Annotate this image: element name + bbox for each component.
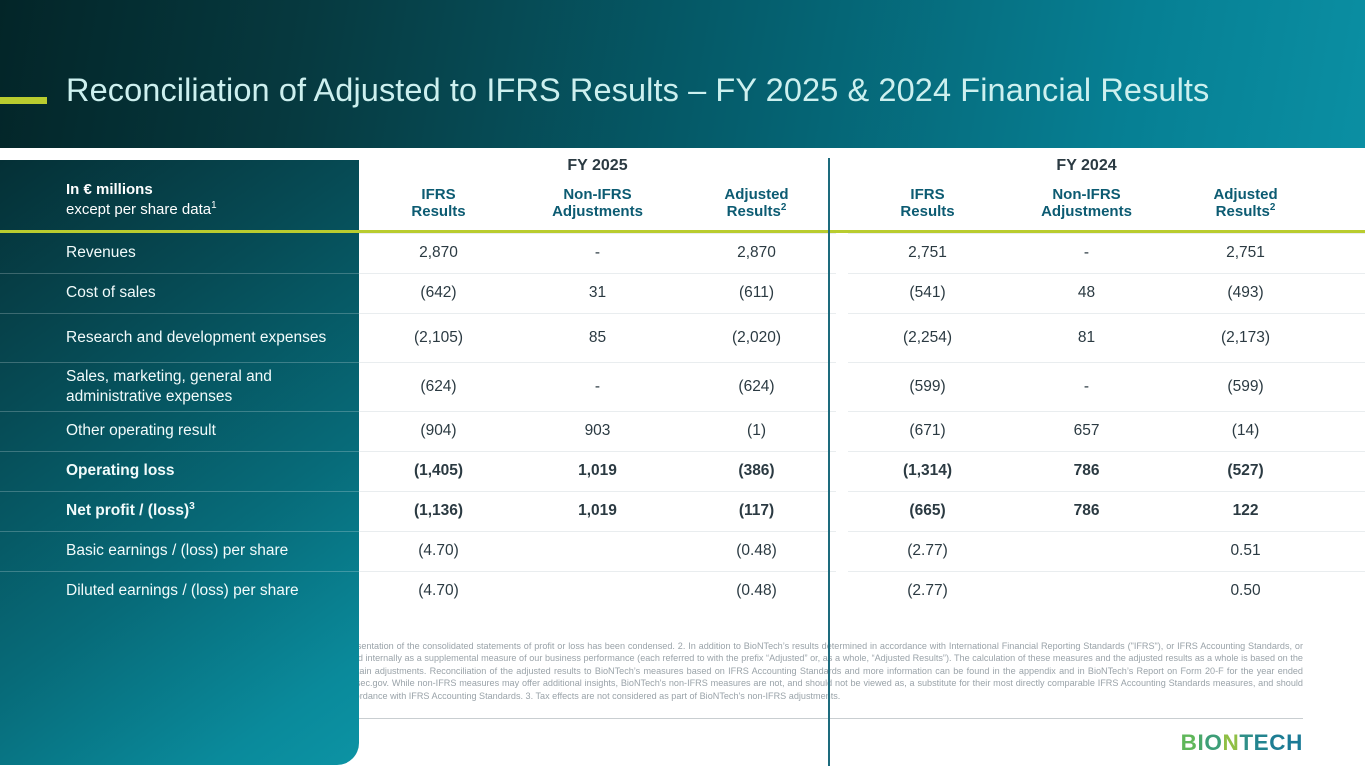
table-cell-value: 2,870	[359, 233, 518, 273]
table-cell-value: (671)	[848, 411, 1007, 451]
page-title: Reconciliation of Adjusted to IFRS Resul…	[66, 72, 1209, 109]
table-cell-value: (2,020)	[677, 313, 836, 362]
table-cell-value: (0.48)	[677, 531, 836, 571]
group-header-gap	[836, 148, 848, 178]
table-cell-value: 48	[1007, 273, 1166, 313]
row-label: Sales, marketing, general and administra…	[0, 362, 359, 411]
table-cell-value	[518, 531, 677, 571]
group-header-pad	[1325, 148, 1365, 178]
table-cell-value: (624)	[359, 362, 518, 411]
col-header-fy2025-ifrs: IFRSResults	[359, 178, 518, 230]
row-gap-cell	[836, 233, 848, 273]
col-header-fy2024-nonifrs: Non-IFRSAdjustments	[1007, 178, 1166, 230]
table-cell-value: (642)	[359, 273, 518, 313]
row-right-pad	[1325, 362, 1365, 411]
logo-letter-n: N	[1222, 732, 1239, 755]
table-cell-value: (386)	[677, 451, 836, 491]
table-cell-value: (624)	[677, 362, 836, 411]
row-right-pad	[1325, 571, 1365, 611]
slide-header-banner: Reconciliation of Adjusted to IFRS Resul…	[0, 0, 1365, 148]
row-right-pad	[1325, 531, 1365, 571]
table-cell-value: -	[1007, 362, 1166, 411]
row-gap-cell	[836, 362, 848, 411]
table-cell-value: 1,019	[518, 491, 677, 531]
table-cell-value: 2,870	[677, 233, 836, 273]
group-header-spacer	[0, 148, 359, 178]
row-right-pad	[1325, 451, 1365, 491]
table-row: Net profit / (loss)3(1,136)1,019(117)(66…	[0, 491, 1365, 531]
table-row: Basic earnings / (loss) per share(4.70)(…	[0, 531, 1365, 571]
unit-label-line2: except per share data1	[66, 200, 359, 220]
row-label: Basic earnings / (loss) per share	[0, 531, 359, 571]
table-cell-value: 2,751	[1166, 233, 1325, 273]
row-label: Research and development expenses	[0, 313, 359, 362]
table-row: Diluted earnings / (loss) per share(4.70…	[0, 571, 1365, 611]
table-cell-value: 31	[518, 273, 677, 313]
table-cell-value: (2.77)	[848, 571, 1007, 611]
table-cell-value: (14)	[1166, 411, 1325, 451]
row-gap-cell	[836, 451, 848, 491]
biontech-logo: BIONTECH	[1181, 732, 1303, 755]
logo-letter-e: E	[1254, 732, 1270, 755]
row-right-pad	[1325, 273, 1365, 313]
table-cell-value: (1,136)	[359, 491, 518, 531]
row-gap-cell	[836, 313, 848, 362]
table-cell-value: (611)	[677, 273, 836, 313]
accent-bar	[0, 97, 47, 104]
table-row: Operating loss(1,405)1,019(386)(1,314)78…	[0, 451, 1365, 491]
table-cell-value: (493)	[1166, 273, 1325, 313]
year-group-header-row: FY 2025 FY 2024	[0, 148, 1365, 178]
col-header-fy2025-adjusted: AdjustedResults2	[677, 178, 836, 230]
table-cell-value: (527)	[1166, 451, 1325, 491]
row-gap-cell	[836, 531, 848, 571]
row-gap-cell	[836, 273, 848, 313]
year-group-divider	[828, 158, 830, 766]
table-cell-value: (2,173)	[1166, 313, 1325, 362]
table-cell-value: -	[518, 233, 677, 273]
table-cell-value: 786	[1007, 451, 1166, 491]
table-cell-value: (117)	[677, 491, 836, 531]
table-cell-value: -	[1007, 233, 1166, 273]
table-cell-value	[1007, 531, 1166, 571]
table-row: Sales, marketing, general and administra…	[0, 362, 1365, 411]
row-label: Diluted earnings / (loss) per share	[0, 571, 359, 611]
table-cell-value: (904)	[359, 411, 518, 451]
logo-letter-t: T	[1239, 732, 1253, 755]
row-label: Revenues	[0, 233, 359, 273]
table-cell-value: 122	[1166, 491, 1325, 531]
col-header-fy2025-nonifrs: Non-IFRSAdjustments	[518, 178, 677, 230]
row-right-pad	[1325, 411, 1365, 451]
table-row: Other operating result(904)903(1)(671)65…	[0, 411, 1365, 451]
table-cell-value: (665)	[848, 491, 1007, 531]
table-cell-value: 657	[1007, 411, 1166, 451]
col-header-fy2024-ifrs: IFRSResults	[848, 178, 1007, 230]
row-gap-cell	[836, 491, 848, 531]
table-cell-value: 0.51	[1166, 531, 1325, 571]
table-cell-value: 786	[1007, 491, 1166, 531]
row-right-pad	[1325, 491, 1365, 531]
col-header-gap	[836, 178, 848, 230]
table-cell-value	[518, 571, 677, 611]
logo-letter-b: B	[1181, 732, 1198, 755]
table-body: Revenues2,870-2,8702,751-2,751Cost of sa…	[0, 233, 1365, 611]
row-gap-cell	[836, 411, 848, 451]
table-cell-value: (1,405)	[359, 451, 518, 491]
row-right-pad	[1325, 313, 1365, 362]
row-label: Other operating result	[0, 411, 359, 451]
table-cell-value: (541)	[848, 273, 1007, 313]
table-cell-value: 2,751	[848, 233, 1007, 273]
unit-label-footnote-ref: 1	[211, 200, 217, 211]
table-cell-value: 85	[518, 313, 677, 362]
row-label: Net profit / (loss)3	[0, 491, 359, 531]
table-row: Revenues2,870-2,8702,751-2,751	[0, 233, 1365, 273]
table-cell-value: (4.70)	[359, 531, 518, 571]
logo-letter-c: C	[1269, 732, 1286, 755]
table-cell-value: (2,105)	[359, 313, 518, 362]
logo-letter-i: I	[1197, 732, 1204, 755]
unit-label-cell: In € millions except per share data1	[0, 178, 359, 230]
table-cell-value: 0.50	[1166, 571, 1325, 611]
logo-letter-h: H	[1286, 732, 1303, 755]
table-cell-value: -	[518, 362, 677, 411]
col-header-right-pad	[1325, 178, 1365, 230]
unit-label-line1: In € millions	[66, 180, 359, 200]
logo-letter-o: O	[1204, 732, 1222, 755]
table-cell-value: (2,254)	[848, 313, 1007, 362]
table-row: Research and development expenses(2,105)…	[0, 313, 1365, 362]
group-header-fy2025: FY 2025	[359, 148, 836, 178]
reconciliation-table: FY 2025 FY 2024 In € millions except per…	[0, 148, 1365, 611]
table-cell-value: (599)	[1166, 362, 1325, 411]
table-cell-value: (0.48)	[677, 571, 836, 611]
group-header-fy2024: FY 2024	[848, 148, 1325, 178]
column-header-row: In € millions except per share data1 IFR…	[0, 178, 1365, 230]
table-cell-value: (4.70)	[359, 571, 518, 611]
row-label: Operating loss	[0, 451, 359, 491]
col-header-fy2024-adjusted: AdjustedResults2	[1166, 178, 1325, 230]
row-label: Cost of sales	[0, 273, 359, 313]
table-cell-value: (2.77)	[848, 531, 1007, 571]
row-gap-cell	[836, 571, 848, 611]
table-cell-value: (599)	[848, 362, 1007, 411]
table-row: Cost of sales(642)31(611)(541)48(493)	[0, 273, 1365, 313]
table-cell-value	[1007, 571, 1166, 611]
table-cell-value: 1,019	[518, 451, 677, 491]
financial-table-region: FY 2025 FY 2024 In € millions except per…	[0, 148, 1365, 626]
table-cell-value: (1,314)	[848, 451, 1007, 491]
row-right-pad	[1325, 233, 1365, 273]
row-label-footnote-ref: 3	[189, 501, 195, 512]
table-cell-value: 903	[518, 411, 677, 451]
table-cell-value: 81	[1007, 313, 1166, 362]
table-cell-value: (1)	[677, 411, 836, 451]
